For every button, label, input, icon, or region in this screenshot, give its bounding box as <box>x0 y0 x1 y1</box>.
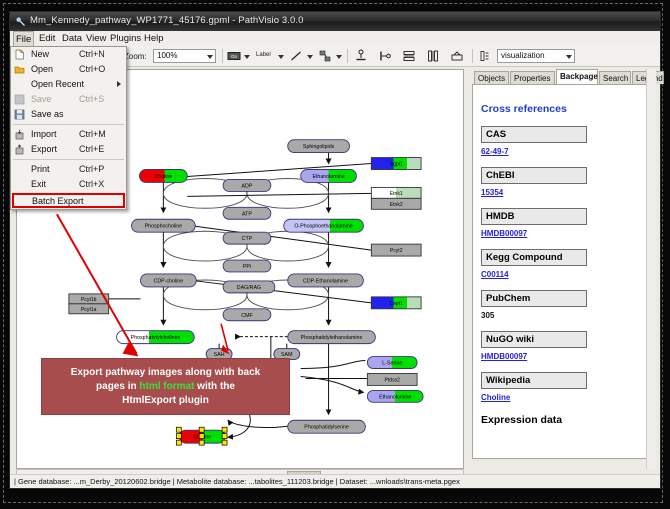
line-dropdown-arrow-icon[interactable] <box>307 55 313 59</box>
callout-line-2b: with the <box>194 381 235 392</box>
annotation-callout: Export pathway images along with back pa… <box>41 358 290 415</box>
node-label: PPi <box>243 264 251 270</box>
file-menu-batch-export-label: Batch Export <box>32 196 84 206</box>
annotation-arrow <box>57 214 137 353</box>
file-menu-item-save-as[interactable]: Save as <box>11 107 126 122</box>
chevron-down-icon <box>207 55 213 59</box>
label-dropdown-arrow-icon[interactable] <box>278 55 284 59</box>
backpage-vertical-scrollbar[interactable] <box>646 69 656 469</box>
menu-plugins[interactable]: Plugins <box>107 32 144 45</box>
file-menu-print-shortcut: Ctrl+P <box>79 164 104 174</box>
node-label: CMF <box>241 313 252 319</box>
xref-source-pubchem: PubChem <box>481 290 587 307</box>
stack-horizontal-button[interactable] <box>426 49 440 63</box>
xref-source-cas: CAS <box>481 126 587 143</box>
tab-objects[interactable]: Objects <box>474 71 509 84</box>
node-label: Phosphatidylcholines <box>131 335 181 341</box>
tab-search[interactable]: Search <box>599 71 631 84</box>
xref-source-wikipedia: Wikipedia <box>481 372 587 389</box>
toolbar-separator-3 <box>347 49 348 63</box>
node-label: Pcyt1a <box>81 307 97 313</box>
chevron-down-icon <box>566 55 572 59</box>
file-menu-open-shortcut: Ctrl+O <box>79 64 105 74</box>
file-menu-item-batch-export[interactable]: Batch Export <box>12 193 125 208</box>
node-label: L-Serine <box>382 361 402 367</box>
line-tool-button[interactable] <box>289 49 303 63</box>
tab-properties[interactable]: Properties <box>510 71 555 84</box>
interaction-tool-button[interactable] <box>318 49 332 63</box>
pathway-metabolite-node[interactable]: ADP <box>223 179 271 191</box>
node-label: Choline <box>154 174 172 180</box>
menu-bar: File Edit Data View Plugins Help <box>10 31 660 47</box>
tab-backpage[interactable]: Backpage <box>556 69 598 84</box>
callout-line-2a: pages in <box>96 381 139 392</box>
file-menu-item-print[interactable]: Print Ctrl+P <box>11 162 126 177</box>
toolbar-separator-4 <box>472 49 473 63</box>
align-top-button[interactable] <box>354 49 368 63</box>
interaction-dropdown-arrow-icon[interactable] <box>336 55 342 59</box>
node-label: ADP <box>242 183 253 189</box>
pathway-metabolite-node[interactable]: DAG/RAG <box>223 281 275 293</box>
save-as-icon <box>14 109 25 120</box>
pathway-metabolite-node[interactable]: L-Serine <box>367 357 417 369</box>
stack-vertical-button[interactable] <box>402 49 416 63</box>
selection-handle[interactable] <box>222 440 227 445</box>
file-menu-exit-shortcut: Ctrl+X <box>79 179 104 189</box>
pathway-gene-node[interactable]: Sgpl1 <box>371 158 421 170</box>
pathway-gene-node[interactable]: Cept1 <box>371 297 421 309</box>
node-label: Etnk2 <box>390 202 403 208</box>
selection-handle[interactable] <box>199 434 204 439</box>
status-bar-text: | Gene database: ...m_Derby_20120602.bri… <box>14 477 460 486</box>
node-label: Ethanolamine <box>379 394 411 400</box>
file-menu-separator-1 <box>13 124 124 125</box>
import-icon <box>14 129 25 140</box>
toolbar-separator-2 <box>222 49 223 63</box>
desktop-background: Mm_Kennedy_pathway_WP1771_45176.gpml - P… <box>0 0 670 509</box>
pathway-metabolite-node[interactable]: ATP <box>223 207 271 219</box>
file-menu-dropdown[interactable]: New Ctrl+N Open Ctrl+O Open Recent Save … <box>10 46 127 210</box>
file-menu-import-shortcut: Ctrl+M <box>79 129 106 139</box>
pathway-metabolite-node[interactable]: Choline <box>140 170 188 183</box>
pathvisio-application-window: Mm_Kennedy_pathway_WP1771_45176.gpml - P… <box>9 11 661 489</box>
xref-source-hmdb: HMDB <box>481 208 587 225</box>
callout-line-3: HtmlExport plugin <box>122 395 209 406</box>
node-label: Phosphatidylserine <box>304 425 349 431</box>
xref-value-chebi[interactable]: 15354 <box>481 188 645 197</box>
xref-value-kegg[interactable]: C00114 <box>481 270 645 279</box>
selection-handle[interactable] <box>199 440 204 445</box>
pathway-gene-node[interactable]: Pcyt2 <box>371 244 421 256</box>
save-icon <box>14 94 25 105</box>
pathway-gene-node[interactable]: Etnk2 <box>371 198 421 209</box>
file-menu-item-new[interactable]: New Ctrl+N <box>11 47 126 62</box>
menu-help[interactable]: Help <box>141 32 167 45</box>
pathway-metabolite-node[interactable]: CTP <box>223 232 271 244</box>
file-menu-item-save: Save Ctrl+S <box>11 92 126 107</box>
file-menu-new-shortcut: Ctrl+N <box>79 49 105 59</box>
submenu-arrow-icon <box>117 81 121 87</box>
selection-handle[interactable] <box>222 434 227 439</box>
file-menu-export-label: Export <box>31 144 57 154</box>
callout-line-2-highlight: html format <box>139 381 194 392</box>
selection-handle[interactable] <box>176 440 181 445</box>
node-label: Sgpl1 <box>390 162 403 168</box>
file-menu-exit-label: Exit <box>31 179 46 189</box>
file-menu-item-export[interactable]: Export Ctrl+E <box>11 142 126 157</box>
annotation-arrow-2 <box>221 324 228 351</box>
folder-open-icon <box>14 64 25 75</box>
pathway-metabolite-node[interactable]: CDP-choline <box>141 274 197 287</box>
file-menu-item-open[interactable]: Open Ctrl+O <box>11 62 126 77</box>
selection-handle[interactable] <box>176 434 181 439</box>
selection-handle[interactable] <box>176 427 181 432</box>
export-icon <box>14 144 25 155</box>
file-menu-save-as-label: Save as <box>31 109 64 119</box>
visualization-value: visualization <box>501 51 545 60</box>
pathway-metabolite-node[interactable]: CDP-Ethanolamine <box>288 274 364 287</box>
new-file-icon <box>14 49 25 60</box>
file-menu-new-label: New <box>31 49 49 59</box>
xref-source-kegg: Kegg Compound <box>481 249 587 266</box>
xref-value-hmdb[interactable]: HMDB00097 <box>481 229 645 238</box>
title-bar: Mm_Kennedy_pathway_WP1771_45176.gpml - P… <box>10 12 660 32</box>
pathway-metabolite-node[interactable]: Phosphatidylethanolamine <box>288 331 376 344</box>
node-label: Pcyt1b <box>81 297 97 303</box>
side-panel-tabs: Objects Properties Backpage Search Legen… <box>472 69 656 84</box>
node-label: Etnk1 <box>390 191 403 197</box>
file-menu-save-label: Save <box>31 94 52 104</box>
callout-line-1: Export pathway images along with back <box>71 367 261 378</box>
common-size-button[interactable] <box>450 49 464 63</box>
backpage-content: Cross references CAS 62-49-7 ChEBI 15354… <box>472 84 654 459</box>
menu-edit[interactable]: Edit <box>36 32 58 45</box>
file-menu-export-shortcut: Ctrl+E <box>79 144 104 154</box>
pathway-metabolite-node[interactable]: Ethanolamine <box>367 390 423 402</box>
selection-handle[interactable] <box>199 427 204 432</box>
pathway-metabolite-node[interactable]: Sphingolipids <box>288 140 350 153</box>
file-menu-open-recent-label: Open Recent <box>31 79 84 89</box>
node-label: O-Phosphoethanolamine <box>294 224 352 230</box>
node-label: ATP <box>242 211 252 217</box>
menu-view[interactable]: View <box>83 32 109 45</box>
visualization-combo[interactable]: visualization <box>497 49 575 63</box>
xref-source-nugo: NuGO wiki <box>481 331 587 348</box>
file-menu-item-open-recent[interactable]: Open Recent <box>11 77 126 92</box>
menu-file[interactable]: File <box>13 31 34 47</box>
xref-value-cas[interactable]: 62-49-7 <box>481 147 645 156</box>
node-label: CTP <box>242 236 253 242</box>
pathway-gene-node[interactable]: Ptdss2 <box>367 373 417 385</box>
pathway-gene-node[interactable]: Etnk1 <box>371 187 421 198</box>
node-label: CDP-choline <box>154 278 184 284</box>
file-menu-item-import[interactable]: Import Ctrl+M <box>11 127 126 142</box>
menu-data[interactable]: Data <box>59 32 85 45</box>
datanode-button[interactable]: Gn <box>227 49 241 63</box>
node-label: Pcyt2 <box>390 248 403 254</box>
xref-value-wikipedia[interactable]: Choline <box>481 393 645 402</box>
pathway-metabolite-node[interactable]: Ethanolamine <box>301 170 357 183</box>
node-label: Ethanolamine <box>312 174 344 180</box>
datanode-dropdown-arrow-icon[interactable] <box>244 55 250 59</box>
file-menu-item-exit[interactable]: Exit Ctrl+X <box>11 177 126 192</box>
zoom-value: 100% <box>157 51 177 60</box>
node-label: Sphingolipids <box>303 144 335 150</box>
node-label: Phosphocholine <box>145 224 183 230</box>
cross-references-title: Cross references <box>481 103 645 115</box>
visualization-icon <box>478 49 492 63</box>
file-menu-save-shortcut: Ctrl+S <box>79 94 104 104</box>
pathway-metabolite-node[interactable]: CMF <box>223 309 271 321</box>
xref-value-nugo[interactable]: HMDB00097 <box>481 352 645 361</box>
svg-text:Gn: Gn <box>231 54 238 59</box>
zoom-label: Zoom: <box>124 52 147 61</box>
pathway-metabolite-node[interactable]: Phosphocholine <box>132 219 196 232</box>
pathway-gene-node[interactable]: Pcyt1a <box>69 304 109 314</box>
xref-source-chebi: ChEBI <box>481 167 587 184</box>
window-title: Mm_Kennedy_pathway_WP1771_45176.gpml - P… <box>30 15 304 26</box>
node-label: Phosphatidylethanolamine <box>301 335 363 341</box>
label-tool-label[interactable]: Label <box>256 52 271 58</box>
node-label: CDP-Ethanolamine <box>303 278 348 284</box>
expression-data-heading: Expression data <box>481 414 645 426</box>
node-label: Ptdss2 <box>384 377 400 383</box>
file-menu-separator-2 <box>13 159 124 160</box>
node-label: DAG/RAG <box>237 285 261 291</box>
pathvisio-app-icon <box>15 16 26 27</box>
file-menu-print-label: Print <box>31 164 50 174</box>
node-label: Cept1 <box>389 301 403 307</box>
file-menu-open-label: Open <box>31 64 53 74</box>
annotation-callout-text: Export pathway images along with back pa… <box>65 366 267 408</box>
file-menu-import-label: Import <box>31 129 57 139</box>
pathway-metabolite-node[interactable]: PPi <box>223 260 271 272</box>
pathway-metabolite-node[interactable]: O-Phosphoethanolamine <box>284 219 364 232</box>
pathway-metabolite-node[interactable]: Phosphatidylserine <box>288 420 366 433</box>
status-bar: | Gene database: ...m_Derby_20120602.bri… <box>10 474 660 488</box>
align-left-button[interactable] <box>378 49 392 63</box>
zoom-combo[interactable]: 100% <box>153 49 216 63</box>
selection-handle[interactable] <box>222 427 227 432</box>
side-panel: Objects Properties Backpage Search Legen… <box>468 69 656 469</box>
xref-value-pubchem: 305 <box>481 311 645 320</box>
